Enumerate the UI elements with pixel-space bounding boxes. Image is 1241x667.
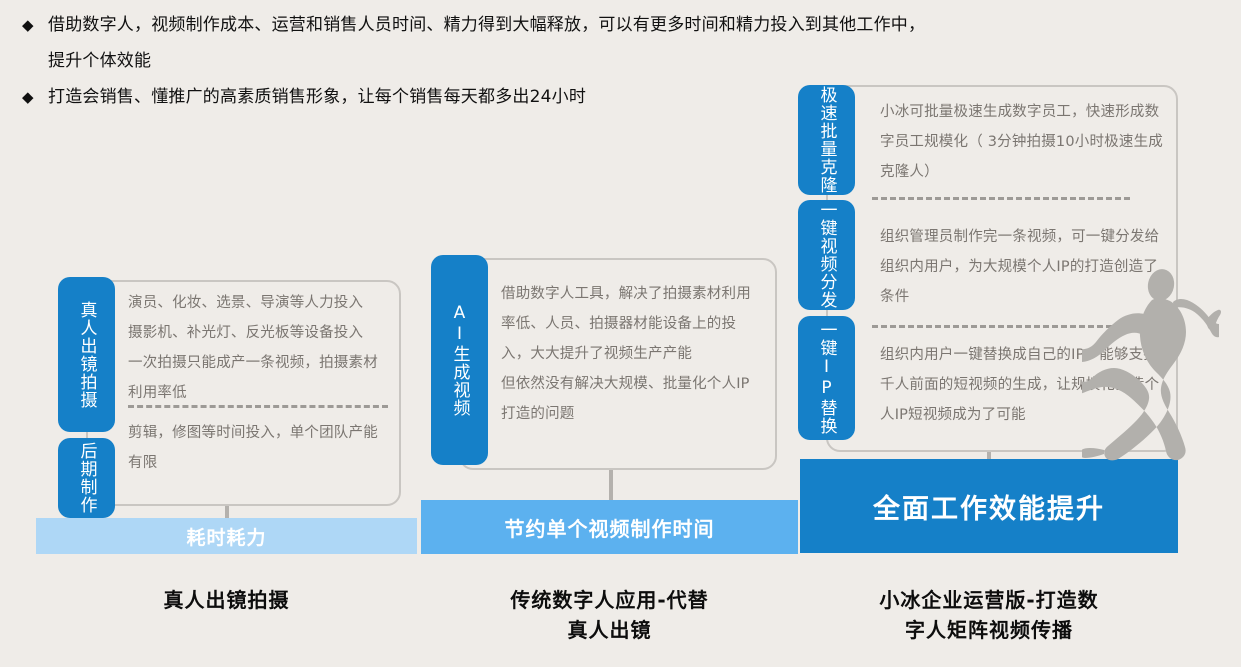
paragraph-human-shoot-1: 演员、化妆、选景、导演等人力投入 摄影机、补光灯、反光板等设备投入 一次拍摄只能… [128,288,386,408]
result-banner-right: 全面工作效能提升 [800,459,1178,553]
result-banner-right-label: 全面工作效能提升 [873,487,1105,526]
card-divider-r1 [872,197,1130,200]
bullet-text: 借助数字人，视频制作成本、运营和销售人员时间、精力得到大幅释放，可以有更多时间和… [48,8,925,42]
tab-post-production[interactable]: 后期制作 [58,438,115,518]
connector-stub-right [987,452,991,459]
connector-stub-middle [609,470,613,500]
paragraph-xiaoice-1: 小冰可批量极速生成数字员工，快速形成数字员工规模化（ 3分钟拍摄10小时极速生成… [880,97,1165,187]
paragraph-xiaoice-3: 组织内用户一键替换成自己的IP，能够支持千人前面的短视频的生成，让规模化打造个人… [880,340,1165,430]
bullet-text: 打造会销售、懂推广的高素质销售形象，让每个销售每天都多出24小时 [48,80,586,114]
tab-label: 一键视频分发 [817,201,837,309]
tab-one-click-ip-replacement[interactable]: 一键IP替换 [798,316,855,440]
tab-label: 一键IP替换 [817,321,837,435]
card-divider-1 [128,405,388,408]
tab-label: 真人出镜拍摄 [77,301,97,409]
column-caption-right: 小冰企业运营版-打造数 字人矩阵视频传播 [800,585,1178,645]
result-banner-left-label: 耗时耗力 [186,523,266,550]
tab-label: 后期制作 [77,442,97,514]
column-caption-left: 真人出镜拍摄 [36,585,417,615]
bullet-marker-icon: ◆ [22,8,48,42]
paragraph-human-shoot-2: 剪辑，修图等时间投入，单个团队产能有限 [128,418,386,478]
card-divider-r2 [872,325,1130,328]
tab-rapid-batch-clone[interactable]: 极速批量克隆 [798,85,855,195]
bullet-item: ◆ 借助数字人，视频制作成本、运营和销售人员时间、精力得到大幅释放，可以有更多时… [22,8,1212,42]
result-banner-left: 耗时耗力 [36,518,417,554]
paragraph-xiaoice-2: 组织管理员制作完一条视频，可一键分发给组织内用户，为大规模个人IP的打造创造了条… [880,222,1165,312]
tab-label: 极速批量克隆 [817,86,837,194]
column-caption-middle: 传统数字人应用-代替 真人出镜 [421,585,798,645]
result-banner-middle-label: 节约单个视频制作时间 [505,513,715,542]
bullet-marker-icon: ◆ [22,80,48,114]
tab-ai-generated-video[interactable]: AI生成视频 [431,255,488,465]
result-banner-middle: 节约单个视频制作时间 [421,500,798,554]
tab-one-click-video-distribution[interactable]: 一键视频分发 [798,200,855,310]
tab-human-onscreen-shooting[interactable]: 真人出镜拍摄 [58,277,115,432]
paragraph-ai-video-1: 借助数字人工具，解决了拍摄素材利用率低、人员、拍摄器材能设备上的投入，大大提升了… [501,279,763,429]
tab-label: AI生成视频 [450,303,470,417]
bullet-text: 提升个体效能 [48,44,151,78]
bullet-item-continuation: 提升个体效能 [22,44,1212,78]
